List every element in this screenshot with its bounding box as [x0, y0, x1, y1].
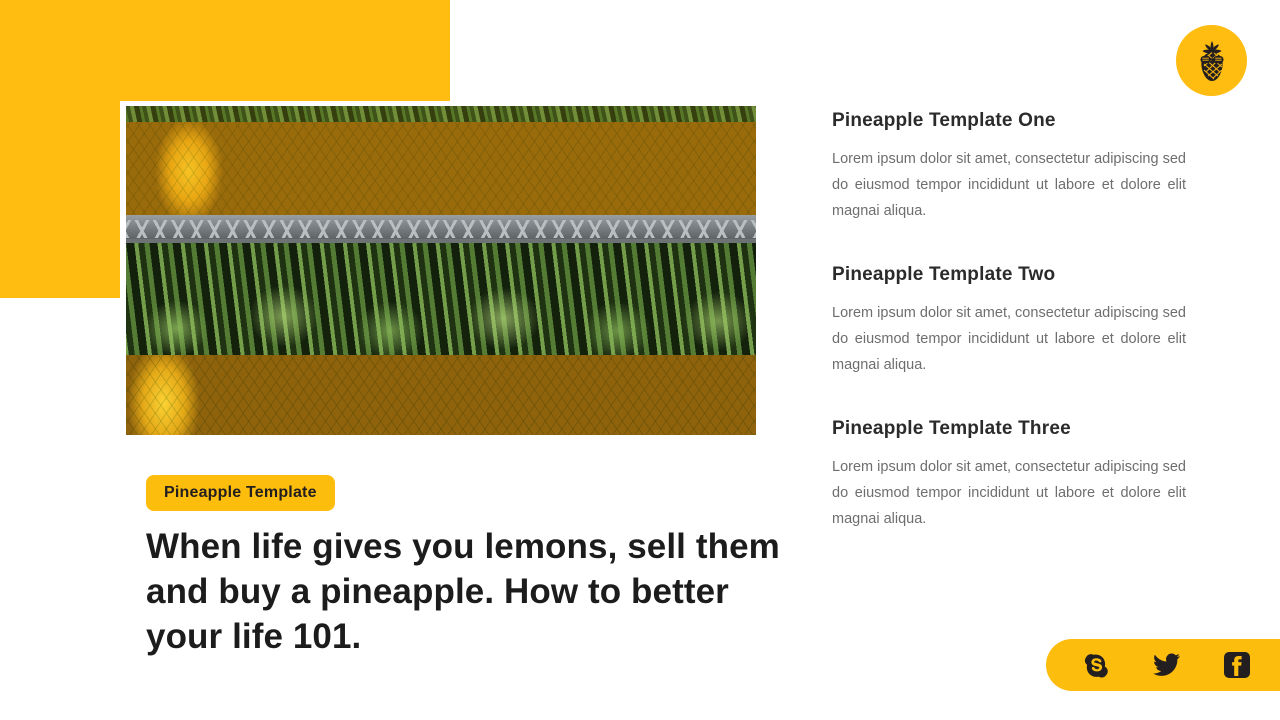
decorative-yellow-block-top	[0, 0, 450, 101]
photo-wire-shelf	[126, 215, 756, 243]
social-links-bar	[1046, 639, 1280, 691]
feature-list: Pineapple Template One Lorem ipsum dolor…	[832, 110, 1186, 532]
category-badge[interactable]: Pineapple Template	[146, 475, 335, 511]
pineapple-sunglasses-icon	[1192, 39, 1232, 83]
feature-title: Pineapple Template Three	[832, 418, 1186, 440]
photo-green-crowns	[126, 243, 756, 365]
facebook-icon[interactable]	[1222, 650, 1252, 680]
twitter-icon[interactable]	[1152, 650, 1182, 680]
slide-headline: When life gives you lemons, sell them an…	[146, 524, 786, 659]
feature-body: Lorem ipsum dolor sit amet, consectetur …	[832, 454, 1186, 532]
feature-body: Lorem ipsum dolor sit amet, consectetur …	[832, 146, 1186, 224]
logo-badge[interactable]	[1176, 25, 1247, 96]
hero-image-pineapple-shelves	[126, 106, 756, 435]
photo-upper-shelf-fruit	[126, 106, 756, 218]
skype-icon[interactable]	[1082, 650, 1112, 680]
decorative-yellow-block-left	[0, 101, 120, 298]
photo-top-crowns	[126, 106, 756, 122]
feature-title: Pineapple Template Two	[832, 264, 1186, 286]
feature-item-three: Pineapple Template Three Lorem ipsum dol…	[832, 418, 1186, 532]
feature-item-one: Pineapple Template One Lorem ipsum dolor…	[832, 110, 1186, 224]
photo-lower-shelf-fruit	[126, 355, 756, 435]
presentation-slide: Pineapple Template When life gives you l…	[0, 0, 1280, 720]
feature-title: Pineapple Template One	[832, 110, 1186, 132]
feature-body: Lorem ipsum dolor sit amet, consectetur …	[832, 300, 1186, 378]
feature-item-two: Pineapple Template Two Lorem ipsum dolor…	[832, 264, 1186, 378]
